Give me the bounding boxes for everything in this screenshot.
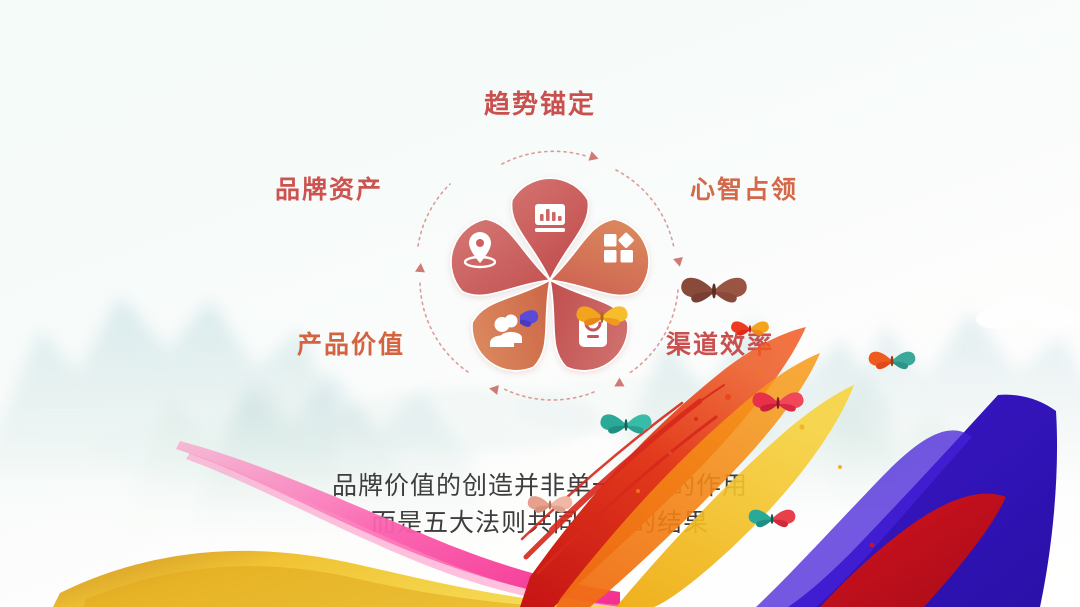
arrowhead-bottom-right [612,378,625,391]
arrowhead-top-right [588,151,600,163]
label-product-value: 产品价值 [297,325,405,361]
arrowhead-left [415,263,426,273]
paper-cloud [976,294,1078,329]
arc-arrow-top [502,151,586,164]
flower-svg [390,130,710,430]
caption-line-2: 而是五大法则共同作用的结果 [0,505,1080,542]
caption-block: 品牌价值的创造并非单一因素的作用 而是五大法则共同作用的结果 [0,468,1080,542]
label-channel-efficiency: 渠道效率 [666,325,774,361]
arrowhead-bottom [488,384,499,395]
arc-arrow-left [420,280,468,372]
arc-arrow-upper-left [418,184,450,246]
shopping-bag-icon [579,315,607,347]
caption-line-1: 品牌价值的创造并非单一因素的作用 [0,468,1080,505]
label-brand-asset: 品牌资产 [275,170,383,206]
slide-canvas: 趋势锚定 品牌资产 心智占领 产品价值 渠道效率 品牌价值的创造并非单一因素的作… [0,0,1080,607]
butterfly-multicolor [869,352,916,370]
five-petal-diagram [390,130,710,430]
label-mind-occupation: 心智占领 [690,170,798,206]
gold-brush-stroke-2 [80,566,600,607]
label-trend-anchor: 趋势锚定 [0,84,1080,121]
arrowhead-right [673,257,685,268]
gold-brush-stroke [50,551,620,607]
butterfly-crimson [752,392,803,411]
arc-arrow-bottom [502,388,594,400]
